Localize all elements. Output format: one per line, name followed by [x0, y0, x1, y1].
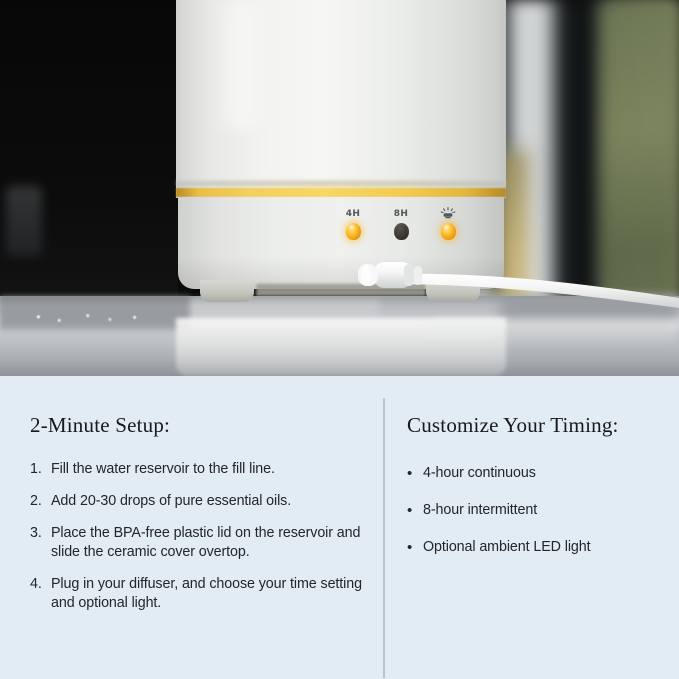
timing-heading: Customize Your Timing:	[407, 413, 669, 438]
bullet-marker: •	[407, 464, 423, 483]
step-marker: 2.	[30, 492, 51, 511]
table-dust-specks	[28, 312, 158, 324]
step-marker: 3.	[30, 524, 51, 543]
bullet-marker: •	[407, 538, 423, 557]
control-8h-label: 8H	[384, 209, 418, 219]
cable-reflection	[427, 320, 679, 346]
step-text: Fill the water reservoir to the fill lin…	[51, 460, 370, 479]
lamp-shine	[349, 225, 354, 229]
list-item: • 4-hour continuous	[407, 464, 669, 483]
info-panel: 2-Minute Setup: 1. Fill the water reserv…	[0, 376, 679, 679]
timing-options-list: • 4-hour continuous • 8-hour intermitten…	[407, 464, 669, 557]
step-text: Plug in your diffuser, and choose your t…	[51, 575, 370, 613]
list-item: • Optional ambient LED light	[407, 538, 669, 557]
control-4h[interactable]: 4H	[336, 209, 370, 240]
light-bulb-icon	[439, 207, 457, 219]
diffuser-ceramic-cover	[176, 0, 506, 198]
option-text: 4-hour continuous	[423, 464, 669, 483]
step-marker: 4.	[30, 575, 51, 594]
control-4h-label: 4H	[336, 209, 370, 219]
dark-wall-background	[0, 0, 178, 330]
power-cable	[352, 250, 679, 312]
list-item: 2. Add 20-30 drops of pure essential oil…	[30, 492, 370, 511]
control-4h-lamp[interactable]	[346, 223, 361, 240]
option-text: 8-hour intermittent	[423, 501, 669, 520]
led-light-ring	[176, 188, 506, 197]
diffuser-foot-left	[200, 280, 254, 302]
control-8h-lamp[interactable]	[394, 223, 409, 240]
list-item: 1. Fill the water reservoir to the fill …	[30, 460, 370, 479]
diffuser-highlight	[210, 0, 270, 130]
column-divider	[383, 398, 385, 678]
control-light-lamp[interactable]	[441, 223, 456, 240]
product-infographic: 4H 8H	[0, 0, 679, 679]
list-item: 3. Place the BPA-free plastic lid on the…	[30, 524, 370, 562]
setup-steps-list: 1. Fill the water reservoir to the fill …	[30, 460, 370, 613]
step-text: Place the BPA-free plastic lid on the re…	[51, 524, 370, 562]
option-text: Optional ambient LED light	[423, 538, 669, 557]
control-8h[interactable]: 8H	[384, 209, 418, 240]
product-photo: 4H 8H	[0, 0, 679, 376]
step-marker: 1.	[30, 460, 51, 479]
timing-column: Customize Your Timing: • 4-hour continuo…	[407, 376, 669, 575]
lamp-shine	[444, 225, 449, 229]
bullet-marker: •	[407, 501, 423, 520]
setup-heading: 2-Minute Setup:	[30, 413, 370, 438]
list-item: • 8-hour intermittent	[407, 501, 669, 520]
setup-column: 2-Minute Setup: 1. Fill the water reserv…	[30, 376, 370, 626]
list-item: 4. Plug in your diffuser, and choose you…	[30, 575, 370, 613]
control-light[interactable]	[431, 207, 465, 240]
background-object	[6, 186, 42, 256]
step-text: Add 20-30 drops of pure essential oils.	[51, 492, 370, 511]
